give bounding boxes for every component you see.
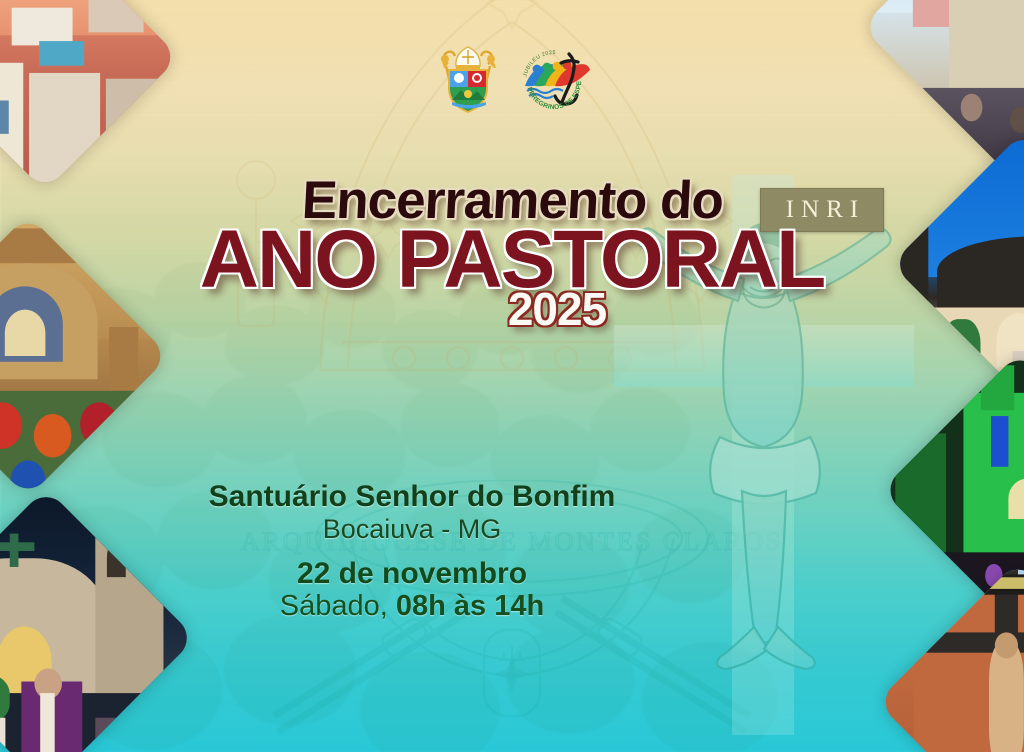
poster-canvas: ARQUIDIOCESE DE MONTES CLAROS: [0, 0, 1024, 752]
crucifix-illustration: [604, 175, 934, 735]
inri-text: INRI: [779, 196, 865, 224]
jubilee-2025-logo-icon: JUBILEU 2025 PEREGRINOS DE ESPERANÇA: [517, 42, 591, 116]
logo-row: JUBILEU 2025 PEREGRINOS DE ESPERANÇA: [0, 42, 1024, 116]
inri-plaque: INRI: [760, 188, 884, 232]
archdiocese-coat-of-arms-icon: [433, 42, 503, 116]
